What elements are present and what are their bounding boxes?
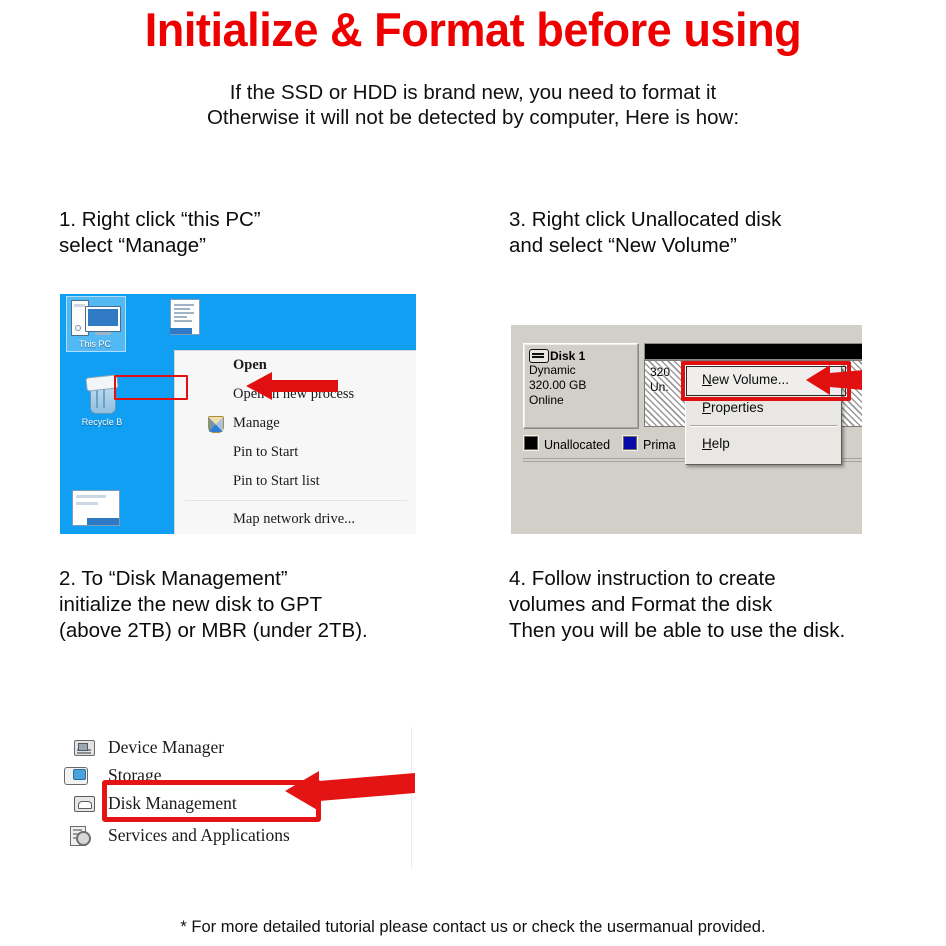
step-1-line-1: 1. Right click “this PC” <box>59 207 261 233</box>
shield-icon <box>208 416 224 433</box>
step-4-line-1: 4. Follow instruction to create <box>509 566 845 592</box>
page-subtitle: If the SSD or HDD is brand new, you need… <box>0 80 946 130</box>
desktop-context-menu-screenshot: This PC Recycle B <box>60 294 416 534</box>
partition-header-bar <box>644 343 862 360</box>
red-arrow-to-manage <box>246 370 338 402</box>
legend-swatch-primary <box>622 435 638 451</box>
desktop-icon-document[interactable] <box>155 298 215 338</box>
disk-menu-separator <box>690 425 837 427</box>
step-3-line-1: 3. Right click Unallocated disk <box>509 207 781 233</box>
disk-name: Disk 1 <box>550 349 638 363</box>
step-2-line-1: 2. To “Disk Management” <box>59 566 368 592</box>
legend-label-primary: Prima <box>643 438 676 452</box>
tree-item-services-label: Services and Applications <box>108 821 290 849</box>
step-1-line-2: select “Manage” <box>59 233 261 259</box>
services-icon <box>68 825 92 845</box>
menu-item-properties-accel: P <box>702 400 711 415</box>
this-pc-label: This PC <box>65 339 125 349</box>
subtitle-line-1: If the SSD or HDD is brand new, you need… <box>0 80 946 105</box>
menu-item-map-network-drive[interactable]: Map network drive... <box>175 505 416 534</box>
storage-icon <box>64 765 88 785</box>
menu-separator <box>185 500 407 501</box>
legend-label-unallocated: Unallocated <box>544 438 610 452</box>
menu-item-help[interactable]: Help <box>686 430 841 458</box>
step-3-line-2: and select “New Volume” <box>509 233 781 259</box>
manage-highlight-box <box>114 375 188 400</box>
menu-item-properties-label: roperties <box>711 400 764 415</box>
step-2-line-3: (above 2TB) or MBR (under 2TB). <box>59 618 368 644</box>
disk-info-box: Disk 1 Dynamic 320.00 GB Online <box>523 343 639 429</box>
red-arrow-to-disk-management <box>285 765 415 813</box>
menu-item-help-label: elp <box>712 436 730 451</box>
disk-status: Online <box>529 393 638 408</box>
legend-swatch-unallocated <box>523 435 539 451</box>
step-4-caption: 4. Follow instruction to create volumes … <box>509 566 845 644</box>
footer-note: * For more detailed tutorial please cont… <box>0 918 946 937</box>
document-icon <box>168 298 202 338</box>
this-pc-icon <box>69 298 121 338</box>
step-2-line-2: initialize the new disk to GPT <box>59 592 368 618</box>
step-4-line-3: Then you will be able to use the disk. <box>509 618 845 644</box>
desktop-icon-this-pc[interactable]: This PC <box>65 298 125 349</box>
menu-item-manage-label: Manage <box>233 415 280 431</box>
infographic-page: Initialize & Format before using If the … <box>0 0 946 946</box>
taskbar-window-thumbnail <box>72 490 120 526</box>
step-4-line-2: volumes and Format the disk <box>509 592 845 618</box>
tree-item-device-manager-label: Device Manager <box>108 733 224 761</box>
step-2-caption: 2. To “Disk Management” initialize the n… <box>59 566 368 644</box>
disk-type: Dynamic <box>529 363 638 378</box>
step-1-caption: 1. Right click “this PC” select “Manage” <box>59 207 261 259</box>
menu-item-manage[interactable]: Manage <box>175 409 416 438</box>
subtitle-line-2: Otherwise it will not be detected by com… <box>0 105 946 130</box>
disk-management-screenshot: Disk 1 Dynamic 320.00 GB Online 320 Un. … <box>511 325 862 534</box>
step-3-caption: 3. Right click Unallocated disk and sele… <box>509 207 781 259</box>
menu-item-pin-to-start[interactable]: Pin to Start <box>175 438 416 467</box>
disk-management-icon <box>72 793 96 813</box>
recycle-bin-label: Recycle B <box>72 417 132 427</box>
page-title: Initialize & Format before using <box>19 2 927 57</box>
red-arrow-to-new-volume <box>806 363 862 397</box>
menu-item-help-accel: H <box>702 436 712 451</box>
menu-item-pin-to-start-list[interactable]: Pin to Start list <box>175 467 416 496</box>
disk-size: 320.00 GB <box>529 378 638 393</box>
device-manager-icon <box>72 737 96 757</box>
disk-icon <box>529 349 549 363</box>
